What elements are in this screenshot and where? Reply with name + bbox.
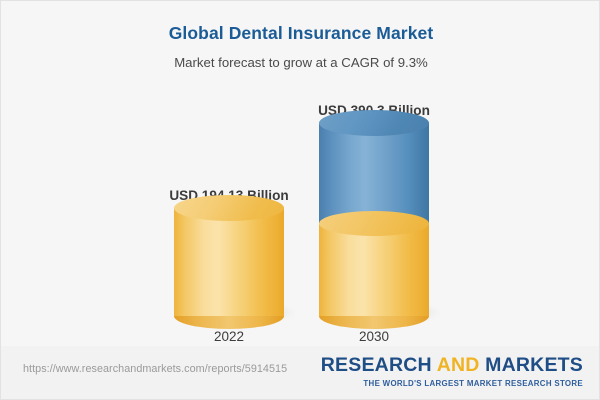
cylinder-bar-2030[interactable] [319,123,429,316]
cylinder-bar-2022[interactable] [174,208,284,316]
bar-segment-base [319,223,429,316]
infographic-card: Global Dental Insurance Market Market fo… [0,0,600,400]
cylinder-top-cap [174,195,284,221]
chart-header: Global Dental Insurance Market Market fo… [1,1,600,71]
page-title: Global Dental Insurance Market [1,23,600,44]
logo-tagline: THE WORLD'S LARGEST MARKET RESEARCH STOR… [321,380,583,388]
logo-word-research: RESEARCH [321,354,437,376]
logo-word-and: AND [437,354,485,376]
chart-plot-area: USD 194.13 Billion 2022 USD 390.3 Billio… [1,81,600,346]
x-axis-label-2030: 2030 [359,329,389,344]
cylinder-top-cap [319,110,429,136]
x-axis-label-2022: 2022 [214,329,244,344]
chart-subtitle: Market forecast to grow at a CAGR of 9.3… [1,55,600,71]
logo-wordmark: RESEARCH AND MARKETS [321,356,583,376]
cylinder-segment-divider [319,211,429,236]
footer-bar: https://www.researchandmarkets.com/repor… [1,346,599,399]
brand-logo[interactable]: RESEARCH AND MARKETS THE WORLD'S LARGEST… [321,356,583,387]
bar-segment-growth [319,123,429,223]
source-url[interactable]: https://www.researchandmarkets.com/repor… [23,363,287,375]
logo-word-markets: MARKETS [485,354,583,376]
bar-segment-base [174,208,284,316]
